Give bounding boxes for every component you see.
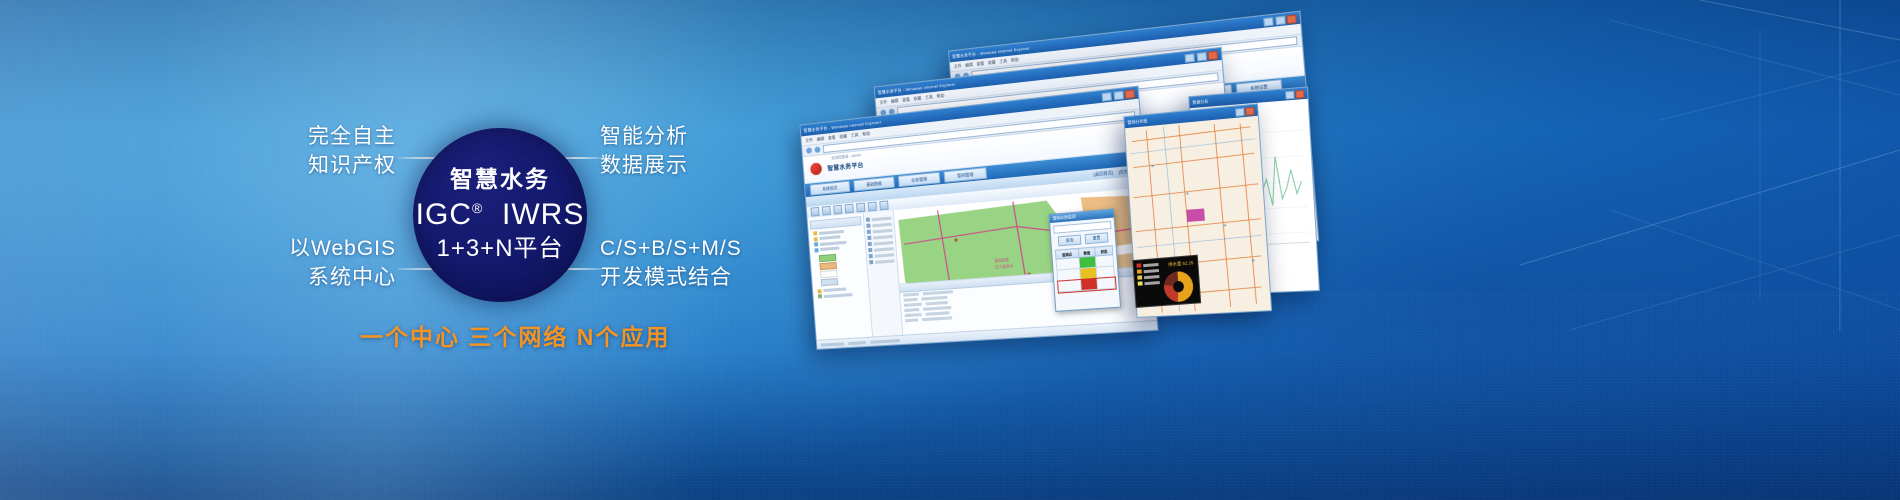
product-screenshot-stack: 智慧水务平台 - Windows Internet Explorer 文件 编辑… <box>790 38 1900 368</box>
feature-top-left-line1: 完全自主 <box>196 122 396 151</box>
feature-bottom-right-line2: 开发模式结合 <box>600 263 742 292</box>
feature-top-right-line2: 数据展示 <box>600 151 688 180</box>
donut-chart <box>1163 270 1194 302</box>
legend-swatch <box>1138 281 1143 285</box>
menu-item-file[interactable]: 文件 <box>879 99 887 106</box>
hero-circle-line3: 1+3+N平台 <box>436 235 563 264</box>
menu-item-view[interactable]: 查看 <box>902 96 910 103</box>
feature-top-right-line1: 智能分析 <box>600 122 688 151</box>
tool-item[interactable] <box>869 252 895 258</box>
feature-top-left: 完全自主 知识产权 <box>196 122 396 181</box>
legend-swatch-white <box>820 269 838 277</box>
query-button[interactable]: 查询 <box>1058 235 1082 247</box>
tool-icon <box>866 217 870 221</box>
folder-icon <box>813 231 817 235</box>
measure-icon[interactable] <box>856 203 865 213</box>
menu-item-edit[interactable]: 编辑 <box>891 97 899 104</box>
feature-top-left-line2: 知识产权 <box>196 151 396 180</box>
menu-item-tools[interactable]: 工具 <box>999 58 1007 65</box>
feature-bottom-left-line2: 系统中心 <box>196 263 396 292</box>
legend-item <box>1137 268 1159 274</box>
dialog-body: 查询 重置 监测点 数值 状态 <box>1050 218 1119 296</box>
zoom-out-icon[interactable] <box>833 205 842 215</box>
window-title: 管网分布图 <box>1127 118 1147 126</box>
tool-item[interactable] <box>868 240 894 246</box>
hero-circle-suite: IWRS <box>502 198 584 231</box>
menu-item-tools[interactable]: 工具 <box>925 94 933 101</box>
map-highlight-box <box>1187 208 1205 221</box>
menu-item-favorites[interactable]: 收藏 <box>988 59 996 66</box>
feature-top-right: 智能分析 数据展示 <box>600 122 688 181</box>
menu-item-help[interactable]: 帮助 <box>862 130 870 137</box>
tool-icon <box>868 242 872 246</box>
tool-icon <box>869 254 873 258</box>
menu-item-file[interactable]: 文件 <box>805 137 813 144</box>
legend-swatch-orange <box>819 261 837 269</box>
hero-circle-line1: 智慧水务 <box>450 167 550 192</box>
layer-icon <box>818 294 822 298</box>
menu-item-help[interactable]: 帮助 <box>936 92 944 99</box>
tool-icon <box>866 224 870 228</box>
window-title: 数据分析 <box>1192 98 1209 105</box>
hero-circle-line2: IGC® IWRS <box>416 196 585 234</box>
tool-item[interactable] <box>867 234 893 240</box>
close-icon <box>1286 14 1297 24</box>
menu-item-favorites[interactable]: 收藏 <box>839 133 847 140</box>
water-supply-donut-panel[interactable]: 供水量 52.25 <box>1132 255 1201 308</box>
minimize-icon <box>1285 90 1294 99</box>
hero-circle-product: IGC <box>416 198 472 231</box>
tool-icon <box>869 260 873 264</box>
legend-item <box>1137 274 1159 280</box>
back-icon[interactable] <box>806 147 812 154</box>
menu-item-help[interactable]: 帮助 <box>1011 56 1019 63</box>
dialog-result-table: 监测点 数值 状态 <box>1055 245 1116 293</box>
layer-tree-panel[interactable] <box>808 213 874 349</box>
pan-icon[interactable] <box>810 207 819 217</box>
close-icon <box>1295 89 1304 98</box>
minimize-icon <box>1263 16 1274 26</box>
zoom-in-icon[interactable] <box>822 206 831 216</box>
hero-infographic: 完全自主 知识产权 以WebGIS 系统中心 智能分析 数据展示 C/S+B/S… <box>0 0 820 500</box>
menu-item-favorites[interactable]: 收藏 <box>913 95 921 102</box>
menu-item-edit[interactable]: 编辑 <box>965 61 973 68</box>
tool-icon <box>867 236 871 240</box>
folder-icon <box>818 289 822 293</box>
folder-icon <box>814 237 818 241</box>
donut-value-label: 供水量 52.25 <box>1168 260 1194 268</box>
minimize-icon <box>1235 107 1245 116</box>
banner-stage: 完全自主 知识产权 以WebGIS 系统中心 智能分析 数据展示 C/S+B/S… <box>0 0 1900 500</box>
platform-name: 智慧水务平台 <box>827 160 864 173</box>
hero-tagline: 一个中心 三个网络 N个应用 <box>360 318 670 352</box>
registered-mark-icon: ® <box>472 200 483 216</box>
tool-item[interactable] <box>869 258 895 264</box>
menu-item-tools[interactable]: 工具 <box>851 132 859 139</box>
close-icon <box>1245 106 1255 115</box>
tool-item[interactable] <box>866 216 892 222</box>
window-controls[interactable] <box>1285 89 1305 99</box>
menu-item-edit[interactable]: 编辑 <box>816 135 824 142</box>
minimize-icon <box>1184 53 1195 63</box>
print-icon[interactable] <box>879 200 888 210</box>
feature-bottom-left-line1: 以WebGIS <box>196 234 396 263</box>
feature-bottom-right: C/S+B/S+M/S 开发模式结合 <box>600 234 742 293</box>
window-controls[interactable] <box>1235 106 1255 116</box>
legend-swatch <box>1136 263 1141 267</box>
legend-swatch-green <box>819 253 837 261</box>
layer-icon <box>814 242 818 246</box>
water-quality-dialog[interactable]: 管网水质监测 查询 重置 监测点 数值 状态 <box>1049 208 1121 312</box>
legend-swatch <box>1137 275 1142 279</box>
tool-item[interactable] <box>868 246 894 252</box>
forward-icon[interactable] <box>814 146 820 153</box>
hero-circle-badge: 智慧水务 IGC® IWRS 1+3+N平台 <box>413 128 587 302</box>
menu-item-view[interactable]: 查看 <box>828 134 836 141</box>
maximize-icon <box>1196 51 1207 61</box>
tool-icon <box>867 230 871 234</box>
menu-item-view[interactable]: 查看 <box>976 60 984 67</box>
link-return-home[interactable]: [返回首页] <box>1093 170 1113 178</box>
company-logo-icon <box>809 161 823 176</box>
layer-icon <box>814 248 818 252</box>
minimize-icon <box>1101 91 1111 101</box>
legend-swatch-blue <box>821 277 839 285</box>
dialog-buttons: 查询 重置 <box>1054 232 1112 247</box>
legend-swatches <box>819 251 866 286</box>
tool-item[interactable] <box>866 222 892 228</box>
identify-icon[interactable] <box>868 202 877 212</box>
close-icon <box>1124 89 1135 99</box>
feature-bottom-left: 以WebGIS 系统中心 <box>196 234 396 293</box>
maximize-icon <box>1113 90 1124 100</box>
legend-item <box>1136 262 1158 268</box>
donut-legend <box>1136 262 1160 288</box>
legend-swatch <box>1137 269 1142 273</box>
close-icon <box>1207 50 1218 60</box>
select-icon[interactable] <box>845 204 854 214</box>
reset-button[interactable]: 重置 <box>1085 232 1109 244</box>
menu-item-file[interactable]: 文件 <box>954 63 962 70</box>
tool-item[interactable] <box>867 228 893 234</box>
feature-bottom-right-line1: C/S+B/S+M/S <box>600 234 742 263</box>
tool-icon <box>868 248 872 252</box>
maximize-icon <box>1275 15 1286 25</box>
legend-item <box>1138 280 1160 286</box>
